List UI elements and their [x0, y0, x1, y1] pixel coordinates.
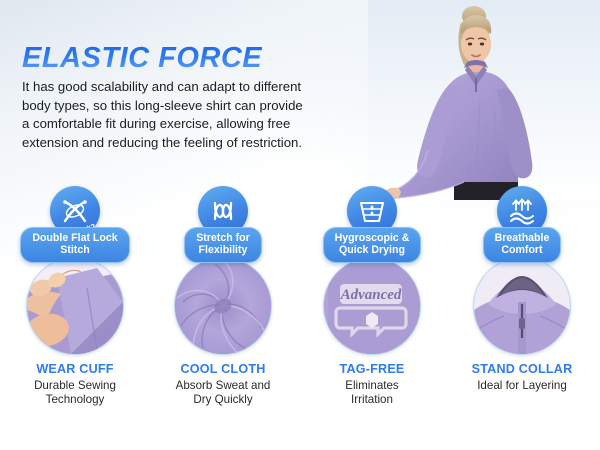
- feature-badge-stretch-for-flexibility: Stretch for Flexibility: [184, 227, 262, 263]
- feature-title-cool-cloth: COOL CLOTH: [148, 362, 298, 376]
- hero-model-photo: [368, 0, 600, 200]
- feature-badge-hygroscopic-quick-drying: Hygroscopic & Quick Drying: [323, 227, 422, 263]
- feature-badge-breathable-comfort: Breathable Comfort: [483, 227, 562, 263]
- photo-stand-collar: [473, 257, 571, 355]
- product-infographic: ELASTIC FORCE It has good scalability an…: [0, 0, 600, 450]
- photo-cool-cloth: [174, 257, 272, 355]
- feature-column-tag-free: Hygroscopic & Quick Drying Advanced TAG-…: [297, 186, 447, 408]
- feature-column-wear-cuff: x2 Double Flat Lock Stitch WEAR CUFF Dur…: [0, 186, 150, 408]
- tag-print-text: Advanced: [340, 287, 402, 303]
- intro-paragraph: It has good scalability and can adapt to…: [22, 78, 378, 152]
- feature-column-stand-collar: Breathable Comfort STAND COLLAR Ideal fo…: [447, 186, 597, 393]
- feature-title-stand-collar: STAND COLLAR: [447, 362, 597, 376]
- feature-subtitle-cool-cloth: Absorb Sweat and Dry Quickly: [148, 379, 298, 408]
- feature-badge-double-flat-lock-stitch: Double Flat Lock Stitch: [20, 227, 129, 263]
- feature-subtitle-wear-cuff: Durable Sewing Technology: [0, 379, 150, 408]
- photo-tag-free: Advanced: [323, 257, 421, 355]
- feature-title-wear-cuff: WEAR CUFF: [0, 362, 150, 376]
- feature-title-tag-free: TAG-FREE: [297, 362, 447, 376]
- photo-wear-cuff: [26, 257, 124, 355]
- page-title: ELASTIC FORCE: [22, 42, 262, 75]
- feature-subtitle-stand-collar: Ideal for Layering: [447, 379, 597, 393]
- feature-column-cool-cloth: Stretch for Flexibility: [148, 186, 298, 408]
- feature-subtitle-tag-free: Eliminates Irritation: [297, 379, 447, 408]
